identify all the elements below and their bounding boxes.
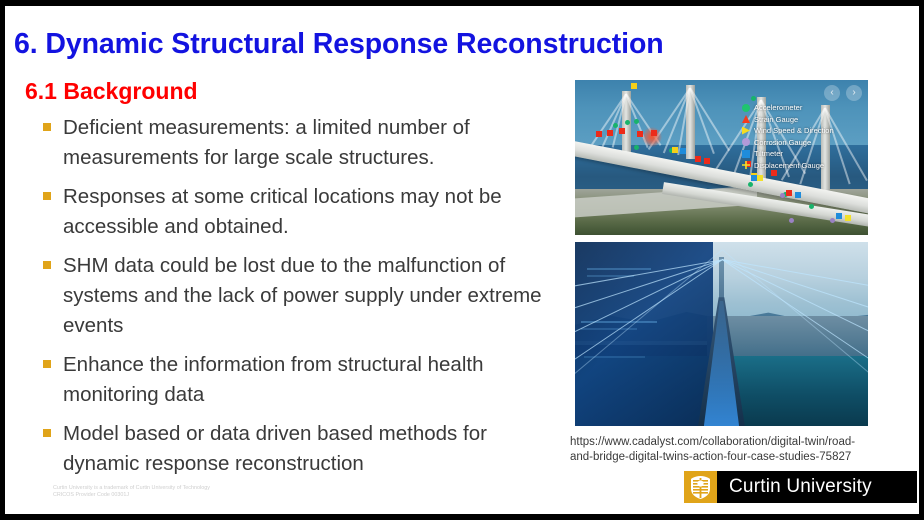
sensor-strain-gauge — [704, 158, 710, 164]
carousel-prev-icon[interactable]: ‹ — [824, 85, 840, 101]
corrosion-gauge-marker-icon — [742, 138, 750, 146]
square-bullet-icon — [43, 429, 51, 437]
sensor-displacement-gauge — [757, 175, 763, 181]
legend-label: Strain Gauge — [754, 115, 798, 124]
curtin-university-logo: Curtin University — [684, 471, 917, 503]
square-bullet-icon — [43, 123, 51, 131]
list-item: Model based or data driven based methods… — [43, 419, 563, 479]
sensor-corrosion-gauge — [789, 218, 794, 223]
legend-item-strain-gauge: Strain Gauge — [742, 114, 864, 125]
sensor-accelerometer — [634, 119, 639, 124]
source-url-line-2: and-bridge-digital-twins-action-four-cas… — [570, 451, 851, 463]
slide-title: 6. Dynamic Structural Response Reconstru… — [14, 28, 754, 61]
strain-gauge-marker-icon — [742, 115, 750, 123]
sensor-strain-gauge — [637, 131, 643, 137]
sensor-strain-gauge — [651, 130, 657, 136]
list-item: SHM data could be lost due to the malfun… — [43, 251, 563, 341]
sensor-strain-gauge — [619, 128, 625, 134]
square-bullet-icon — [43, 360, 51, 368]
bullet-list: Deficient measurements: a limited number… — [43, 113, 563, 488]
sensor-strain-gauge — [596, 131, 602, 137]
section-heading: 6.1 Background — [25, 78, 198, 105]
sensor-wind-speed-direction — [672, 147, 678, 153]
sensor-displacement-gauge — [845, 215, 851, 221]
sensor-tiltmeter — [795, 192, 801, 198]
displacement-gauge-marker-icon — [742, 161, 750, 169]
presentation-slide: 6. Dynamic Structural Response Reconstru… — [0, 0, 924, 520]
source-url-caption: https://www.cadalyst.com/collaboration/d… — [570, 435, 915, 464]
list-item: Deficient measurements: a limited number… — [43, 113, 563, 173]
data-readout-bar — [587, 268, 651, 270]
list-item-text: SHM data could be lost due to the malfun… — [63, 251, 563, 341]
digital-twin-bridge-image — [575, 242, 868, 426]
square-bullet-icon — [43, 261, 51, 269]
sensor-strain-gauge — [786, 190, 792, 196]
legend-item-corrosion-gauge: Corrosion Gauge — [742, 137, 864, 148]
legend-item-tiltmeter: Tiltmeter — [742, 148, 864, 159]
curtin-wordmark: Curtin University — [717, 471, 917, 503]
legend-label: Corrosion Gauge — [754, 138, 811, 147]
source-url-line-1: https://www.cadalyst.com/collaboration/d… — [570, 436, 855, 448]
wind-speed-marker-icon — [742, 127, 750, 135]
sensor-strain-gauge — [607, 130, 613, 136]
carousel-next-icon[interactable]: › — [846, 85, 862, 101]
list-item: Responses at some critical locations may… — [43, 182, 563, 242]
tiltmeter-marker-icon — [742, 150, 750, 158]
list-item-text: Responses at some critical locations may… — [63, 182, 563, 242]
legend-label: Wind Speed & Direction — [754, 126, 834, 135]
footer-legal-text: Curtin University is a trademark of Curt… — [53, 485, 210, 499]
list-item: Enhance the information from structural … — [43, 350, 563, 410]
curtin-crest-icon — [684, 471, 717, 503]
sensor-accelerometer — [634, 145, 639, 150]
sensor-accelerometer — [751, 96, 756, 101]
sensor-strain-gauge — [695, 156, 701, 162]
sensor-wind-speed-direction — [631, 83, 637, 89]
list-item-text: Deficient measurements: a limited number… — [63, 113, 563, 173]
list-item-text: Model based or data driven based methods… — [63, 419, 563, 479]
sensor-tiltmeter — [836, 213, 842, 219]
legend-label: Accelerometer — [754, 103, 802, 112]
footer-legal-line-2: CRICOS Provider Code 00301J — [53, 492, 210, 499]
accelerometer-marker-icon — [742, 104, 750, 112]
legend-item-displacement-gauge: Displacement Gauge — [742, 160, 864, 171]
square-bullet-icon — [43, 192, 51, 200]
footer-legal-line-1: Curtin University is a trademark of Curt… — [53, 485, 210, 492]
image-carousel-controls[interactable]: ‹ › — [824, 85, 862, 101]
bridge-sensor-layout-image: ‹ › Accelerometer Strain Gauge Wind Spee… — [575, 80, 868, 235]
list-item-text: Enhance the information from structural … — [63, 350, 563, 410]
sensor-legend: Accelerometer Strain Gauge Wind Speed & … — [742, 102, 864, 171]
legend-label: Tiltmeter — [754, 149, 783, 158]
legend-item-accelerometer: Accelerometer — [742, 102, 864, 113]
legend-item-wind-speed: Wind Speed & Direction — [742, 125, 864, 136]
sensor-tiltmeter — [680, 148, 686, 154]
sensor-corrosion-gauge — [830, 218, 835, 223]
legend-label: Displacement Gauge — [754, 161, 824, 170]
